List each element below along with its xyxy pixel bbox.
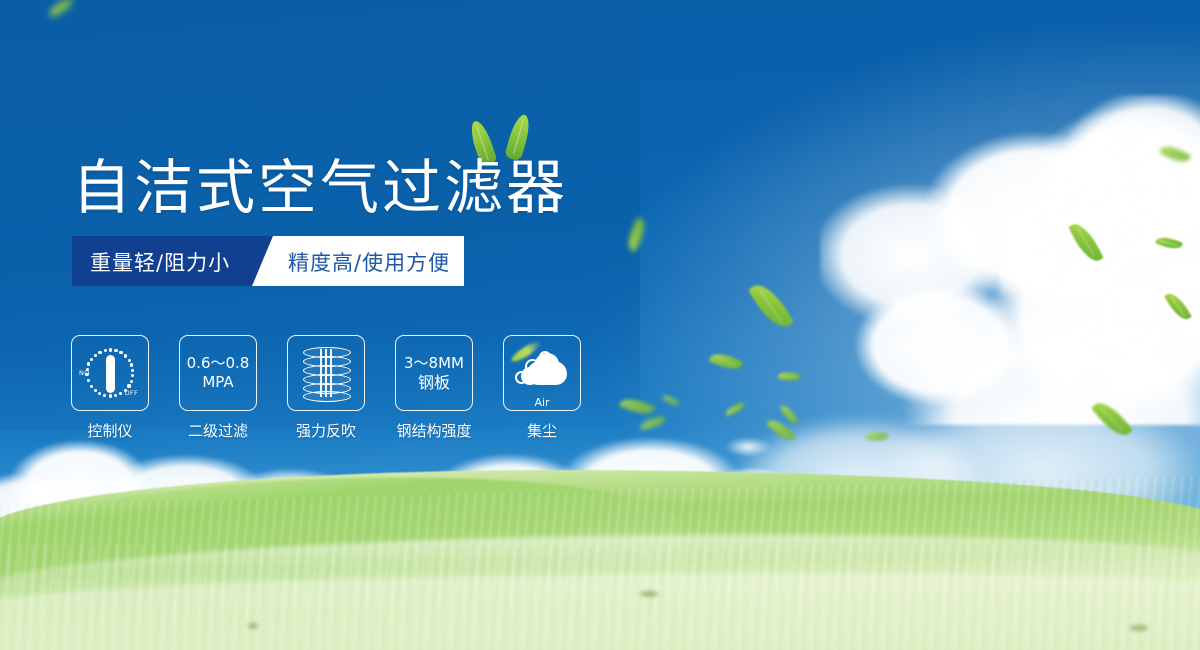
gauge-tick	[94, 354, 97, 357]
product-banner: 自洁式空气过滤器 重量轻/阻力小 精度高/使用方便 NO OFF 控制仪	[0, 0, 1200, 650]
subtitle-bar: 重量轻/阻力小 精度高/使用方便	[72, 236, 464, 286]
gauge-tick	[104, 349, 107, 352]
stack-disc	[303, 391, 351, 402]
gauge-tick	[114, 394, 117, 397]
feature-label: 控制仪	[87, 420, 132, 441]
cloud-caption: Air	[513, 396, 571, 409]
cloud-air-icon: Air	[513, 349, 571, 397]
pressure-unit: MPA	[187, 373, 250, 392]
grass-texture-lower	[0, 545, 1200, 650]
gauge-tick	[90, 385, 93, 388]
cloud-top-right	[1000, 60, 1200, 320]
gauge-tick	[124, 389, 127, 392]
feature-list: NO OFF 控制仪 0.6～0.8 MPA 二级过滤	[72, 335, 580, 441]
feature-label: 二级过滤	[188, 420, 248, 441]
gauge-tick	[130, 363, 133, 366]
feature-icon-box: Air	[503, 335, 581, 411]
subtitle-right-panel: 精度高/使用方便	[252, 236, 464, 286]
gauge-tick	[127, 384, 130, 387]
gauge-tick	[87, 379, 90, 382]
gauge-tick	[114, 349, 117, 352]
pressure-text-icon: 0.6～0.8 MPA	[187, 354, 250, 392]
gauge-needle	[106, 355, 115, 393]
grass-speck-a	[640, 591, 658, 597]
gauge-tick	[124, 354, 127, 357]
steel-material: 钢板	[404, 373, 464, 392]
feature-label: 强力反吹	[296, 420, 356, 441]
steel-thickness: 3～8MM	[404, 354, 464, 373]
gauge-tick	[85, 373, 88, 376]
gauge-tick	[98, 392, 101, 395]
gauge-tick	[94, 389, 97, 392]
feature-label: 钢结构强度	[396, 420, 471, 441]
gauge-tick	[128, 359, 131, 362]
gauge-tick	[130, 380, 133, 383]
feature-icon-box	[287, 335, 365, 411]
feature-label: 集尘	[527, 420, 557, 441]
dust-particle	[539, 351, 551, 363]
feature-steel-strength[interactable]: 3～8MM 钢板 钢结构强度	[396, 335, 472, 441]
filter-stack-icon	[303, 347, 349, 399]
gauge-tick	[90, 358, 93, 361]
feature-control-panel[interactable]: NO OFF 控制仪	[72, 335, 148, 441]
pressure-value: 0.6～0.8	[187, 354, 250, 373]
feature-icon-box: NO OFF	[71, 335, 149, 411]
dust-particle	[515, 371, 528, 384]
gauge-tick	[109, 348, 112, 351]
gauge-tick	[87, 362, 90, 365]
feature-dust-collection[interactable]: Air 集尘	[504, 335, 580, 441]
feature-two-stage-filter[interactable]: 0.6～0.8 MPA 二级过滤	[180, 335, 256, 441]
gauge-tick	[98, 351, 101, 354]
gauge-tick	[103, 394, 106, 397]
gauge-tick	[119, 392, 122, 395]
gauge-tick	[119, 351, 122, 354]
feature-icon-box: 3～8MM 钢板	[395, 335, 473, 411]
grass-speck-b	[1130, 625, 1148, 631]
gauge-tick	[86, 368, 89, 371]
dust-particle	[525, 359, 540, 374]
feature-strong-backblow[interactable]: 强力反吹	[288, 335, 364, 441]
gauge-tick	[131, 374, 134, 377]
gauge-tick	[109, 394, 112, 397]
gauge-tick	[131, 369, 134, 372]
cloud-small-b	[716, 432, 786, 462]
page-title: 自洁式空气过滤器	[72, 140, 568, 225]
steel-text-icon: 3～8MM 钢板	[404, 354, 464, 392]
subtitle-left-text: 重量轻/阻力小	[90, 247, 230, 277]
subtitle-right-text: 精度高/使用方便	[288, 247, 450, 277]
gauge-icon: NO OFF	[78, 343, 142, 403]
feature-icon-box: 0.6～0.8 MPA	[179, 335, 257, 411]
grass-speck-c	[248, 623, 258, 629]
